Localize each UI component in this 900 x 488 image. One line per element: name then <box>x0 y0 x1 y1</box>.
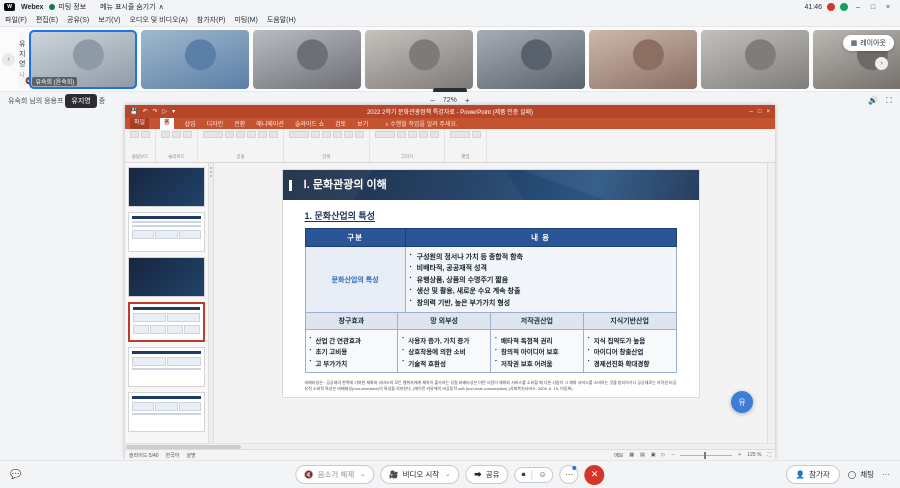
participant-video-tile[interactable]: 유숙희 (윤숙희) <box>29 30 137 89</box>
share-button-label: 공유 <box>486 469 500 480</box>
ribbon-tab-review[interactable]: 검토 <box>335 119 346 128</box>
self-video-tile[interactable]: 유지영 나 🔇 <box>19 30 25 89</box>
minimize-button[interactable]: – <box>853 4 863 11</box>
sub-content-table: 창구효과망 외부성저작권산업지식기반산업 산업 간 연관효과초기 고비용고 부가… <box>305 312 677 373</box>
powerpoint-window-buttons: – □ × <box>750 109 770 115</box>
bullet-item: 생산 및 활용, 새로운 수요 계속 창출 <box>410 286 672 296</box>
more-options-button[interactable]: ⋯ <box>560 465 579 484</box>
reactions-icon[interactable]: ☺ <box>539 470 547 479</box>
ribbon-group-label: 글꼴 <box>236 154 244 160</box>
participant-video-feed <box>253 30 361 89</box>
ribbon-group-label: 클립보드 <box>132 154 149 160</box>
slide-title-banner: Ⅰ. 문화관광의 이해 <box>283 170 699 200</box>
chat-icon: ◯ <box>848 470 856 479</box>
ribbon-button[interactable] <box>269 131 278 138</box>
status-notes-button[interactable]: 메모 <box>614 452 623 459</box>
ribbon-tab-transition[interactable]: 전환 <box>234 119 245 128</box>
fullscreen-icon[interactable]: ⛶ <box>886 96 892 106</box>
chat-button-label: 채팅 <box>860 469 874 480</box>
toolbar-right-group: 👤 참가자 ◯ 채팅 ⋯ <box>786 465 890 484</box>
self-video-name: 유지영 <box>19 39 25 69</box>
presenter-avatar-bubble[interactable]: 유 <box>731 391 753 413</box>
subtable-bullet-item: 저작권 보호 어려움 <box>495 358 579 368</box>
meeting-info-button[interactable]: 미팅 정보 <box>49 2 86 12</box>
ribbon-group[interactable]: 편집 <box>445 129 487 162</box>
layout-button-label: 레이아웃 <box>860 38 886 48</box>
table-row: 문화산업의 특성 구성원의 정서나 가치 등 종합적 함축비배타적, 공공재적 … <box>305 247 676 313</box>
zoom-slider[interactable] <box>680 455 732 456</box>
share-screen-icon: ⮕ <box>474 469 482 480</box>
subtable-bullet-item: 고 부가가치 <box>310 358 394 368</box>
ribbon-button[interactable] <box>322 131 331 138</box>
hide-menubar-label: 메뉴 표시줄 숨기기 <box>100 2 155 12</box>
ribbon-group-label: 그리기 <box>401 154 413 160</box>
ribbon-group[interactable]: 단락 <box>284 129 370 162</box>
webex-logo-icon: W <box>4 3 15 11</box>
chat-button[interactable]: ◯ 채팅 <box>848 469 874 480</box>
ribbon-group-label: 단락 <box>322 154 330 160</box>
ribbon-tab-file[interactable]: 파일 <box>130 118 149 129</box>
start-video-button[interactable]: 🎥 비디오 시작 ⌄ <box>380 465 459 484</box>
ribbon-tab-home[interactable]: 홈 <box>160 118 174 129</box>
subtable-header-row: 창구효과망 외부성저작권산업지식기반산업 <box>305 313 676 330</box>
toolbar-left-group: 💬 <box>10 469 21 480</box>
meeting-timer: 41:46 <box>804 4 822 11</box>
subtable-bullet-item: 아이디어 창출산업 <box>588 346 672 356</box>
zoom-in-icon[interactable]: + <box>738 452 741 458</box>
subtable-body-row: 산업 간 연관효과초기 고비용고 부가가치사용자 증가, 가치 증가상호작용에 … <box>305 330 676 373</box>
ribbon-controls <box>203 131 278 138</box>
ribbon-button[interactable] <box>183 131 192 138</box>
participants-button[interactable]: 👤 참가자 <box>786 465 840 484</box>
menu-item-help[interactable]: 도움말(H) <box>267 15 296 25</box>
subtable-bullet-item: 산업 간 연관효과 <box>310 335 394 345</box>
slide-thumbnail[interactable] <box>128 257 205 297</box>
slide-thumbnail[interactable] <box>128 212 205 252</box>
participant-video-feed <box>589 30 697 89</box>
slide-editing-area[interactable]: Ⅰ. 문화관광의 이해 1. 문화산업의 특성 구분 내 용 문화산업의 특성 … <box>214 163 767 443</box>
ribbon-group-label: 슬라이드 <box>168 154 185 160</box>
subtable-body-cell: 산업 간 연관효과초기 고비용고 부가가치 <box>305 330 398 373</box>
slide-subtitle: 1. 문화산업의 특성 <box>283 200 699 228</box>
table-header-cell: 구분 <box>305 229 405 247</box>
meeting-info-dot-icon <box>49 4 55 10</box>
strip-next-arrow-icon[interactable]: › <box>875 57 888 70</box>
ribbon-button[interactable] <box>289 131 309 138</box>
sharebar-right-icons: 🔊 ⛶ <box>868 96 892 106</box>
participant-video-tile[interactable] <box>141 30 249 89</box>
slide-thumbnail-selected[interactable] <box>128 302 205 342</box>
participant-video-tile[interactable] <box>589 30 697 89</box>
ribbon-group[interactable]: 슬라이드 <box>156 129 198 162</box>
video-off-icon: 🎥 <box>389 470 398 479</box>
ribbon-controls <box>161 131 192 138</box>
status-zoom-level: 125 % <box>747 452 761 458</box>
ribbon-button[interactable] <box>355 131 364 138</box>
table-row-label: 문화산업의 특성 <box>305 247 405 313</box>
subtable-bullet-item: 배타적 독점적 권리 <box>495 335 579 345</box>
participant-video-tile[interactable] <box>477 30 585 89</box>
ribbon-group[interactable]: 그리기 <box>370 129 445 162</box>
close-icon: ✕ <box>591 469 599 480</box>
record-reactions-group: ⏺ ☺ <box>515 467 554 483</box>
horizontal-scrollbar[interactable] <box>125 443 775 449</box>
name-tooltip: 유지영 <box>65 94 96 108</box>
titlebar-right-controls: 41:46 – □ × <box>804 3 896 11</box>
menu-item-edit[interactable]: 편집(E) <box>36 15 58 25</box>
ribbon-button[interactable] <box>450 131 470 138</box>
participant-video-tile[interactable] <box>701 30 809 89</box>
table-header-row: 구분 내 용 <box>305 229 676 247</box>
participant-name-label: 유숙희 (윤숙희) <box>32 77 77 86</box>
ribbon-controls <box>375 131 439 138</box>
layout-button[interactable]: ▦ 레이아웃 <box>843 35 894 51</box>
powerpoint-status-bar: 슬라이드 5/40 한국어 설명 메모 ▦ ▤ ▣ ▷ − + 125 % ⛶ <box>125 449 775 460</box>
subtable-body-cell: 사용자 증가, 가치 증가상호작용에 의한 소비기술적 호환성 <box>398 330 491 373</box>
volume-icon[interactable]: 🔊 <box>868 96 878 106</box>
ribbon-group[interactable]: 클립보드 <box>125 129 156 162</box>
connection-indicator-icon[interactable] <box>840 3 848 11</box>
mic-muted-icon: 🔇 <box>304 470 313 479</box>
menu-item-meeting[interactable]: 미팅(M) <box>234 15 257 25</box>
maximize-button[interactable]: □ <box>868 4 878 11</box>
more-dots-icon: ⋯ <box>565 470 573 479</box>
ribbon-button[interactable] <box>225 131 234 138</box>
shared-application-window: 💾 ↶ ↷ ▷ ▾ 2022 2학기 문화관광정책 특강자료 - PowerPo… <box>125 105 775 460</box>
ribbon-button[interactable] <box>236 131 245 138</box>
chevron-down-icon[interactable]: ⌄ <box>445 471 450 478</box>
ribbon-button[interactable] <box>130 131 139 138</box>
strip-prev-arrow-icon[interactable]: ‹ <box>2 53 15 66</box>
view-normal-icon[interactable]: ▦ <box>629 452 634 458</box>
ribbon-button[interactable] <box>141 131 150 138</box>
status-slide-indicator: 슬라이드 5/40 <box>129 452 159 459</box>
ribbon-tab-insert[interactable]: 삽입 <box>185 119 196 128</box>
current-slide: Ⅰ. 문화관광의 이해 1. 문화산업의 특성 구분 내 용 문화산업의 특성 … <box>282 169 700 398</box>
menu-item-view[interactable]: 보기(V) <box>98 15 120 25</box>
ribbon-button[interactable] <box>344 131 353 138</box>
subtable-body-cell: 지식 집약도가 높음아이디어 창출산업경제선진화 확대경향 <box>583 330 676 373</box>
meeting-controls-toolbar: 💬 🔇 음소거 해제 ⌄ 🎥 비디오 시작 ⌄ ⮕ 공유 ⏺ ☺ <box>0 460 900 488</box>
fit-slide-icon[interactable]: ⛶ <box>767 452 771 458</box>
menu-item-audio-video[interactable]: 오디오 및 비디오(A) <box>129 15 187 25</box>
slide-thumbnail-pane[interactable] <box>125 163 209 443</box>
zoom-control: – 72% + <box>430 96 469 105</box>
subtable-bullet-item: 상호작용에 의한 소비 <box>402 346 486 356</box>
slide-thumbnail[interactable] <box>128 347 205 387</box>
participant-video-tile[interactable] <box>365 30 473 89</box>
subtable-bullet-item: 지식 집약도가 높음 <box>588 335 672 345</box>
webex-meeting-window: W Webex 미팅 정보 메뉴 표시줄 숨기기 ∧ 41:46 – □ × 파… <box>0 0 900 488</box>
bullet-item: 비배타적, 공공재적 성격 <box>410 263 672 273</box>
slide-thumbnail[interactable] <box>128 392 205 432</box>
view-reading-icon[interactable]: ▣ <box>651 452 656 458</box>
main-content-table: 구분 내 용 문화산업의 특성 구성원의 정서나 가치 등 종합적 함축비배타적… <box>305 228 677 313</box>
ribbon-group[interactable]: 글꼴 <box>198 129 284 162</box>
chevron-up-icon: ∧ <box>159 3 164 11</box>
chat-bubble-icon[interactable]: 💬 <box>10 469 21 480</box>
ribbon-tab-slideshow[interactable]: 슬라이드 쇼 <box>295 119 324 128</box>
subtable-bullet-item: 기술적 호환성 <box>402 358 486 368</box>
ribbon-controls <box>130 131 150 138</box>
status-language[interactable]: 한국어 <box>166 452 180 459</box>
table-header-cell: 내 용 <box>405 229 676 247</box>
ribbon-group-label: 편집 <box>461 154 469 160</box>
menu-item-file[interactable]: 파일(F) <box>5 15 27 25</box>
meeting-info-label: 미팅 정보 <box>58 2 86 12</box>
layout-grid-icon: ▦ <box>851 39 858 47</box>
table-bullet-cell: 구성원의 정서나 가치 등 종합적 함축비배타적, 공공재적 성격유행상품, 상… <box>405 247 676 313</box>
ribbon-button[interactable] <box>161 131 170 138</box>
ribbon-button[interactable] <box>430 131 439 138</box>
menu-bar: 파일(F) 편집(E) 공유(S) 보기(V) 오디오 및 비디오(A) 참가자… <box>0 14 900 27</box>
ribbon-tab-view[interactable]: 보기 <box>357 119 368 128</box>
powerpoint-body: Ⅰ. 문화관광의 이해 1. 문화산업의 특성 구분 내 용 문화산업의 특성 … <box>125 163 775 443</box>
subtable-bullet-item: 초기 고비용 <box>310 346 394 356</box>
ribbon-button[interactable] <box>472 131 481 138</box>
subtable-bullet-item: 경제선진화 확대경향 <box>588 358 672 368</box>
view-slideshow-icon[interactable]: ▷ <box>662 452 666 458</box>
ribbon-button[interactable] <box>333 131 342 138</box>
menu-item-share[interactable]: 공유(S) <box>67 15 89 25</box>
menu-item-participant[interactable]: 참가자(P) <box>197 15 226 25</box>
toolbar-center-group: 🔇 음소거 해제 ⌄ 🎥 비디오 시작 ⌄ ⮕ 공유 ⏺ ☺ ⋯ <box>295 465 604 485</box>
hide-menubar-button[interactable]: 메뉴 표시줄 숨기기 ∧ <box>100 2 164 12</box>
subtable-bullet-item: 창의적 아이디어 보호 <box>495 346 579 356</box>
zoom-in-button[interactable]: + <box>465 96 470 105</box>
subtable-bullet-item: 사용자 증가, 가치 증가 <box>402 335 486 345</box>
powerpoint-title-bar: 💾 ↶ ↷ ▷ ▾ 2022 2학기 문화관광정책 특강자료 - PowerPo… <box>125 105 775 118</box>
ribbon-button[interactable] <box>247 131 256 138</box>
status-comments[interactable]: 설명 <box>186 452 195 459</box>
ribbon-button[interactable] <box>311 131 320 138</box>
participants-icon: 👤 <box>796 470 805 479</box>
ppt-close-button[interactable]: × <box>766 109 770 115</box>
bullet-item: 구성원의 정서나 가치 등 종합적 함축 <box>410 252 672 262</box>
participant-video-feed <box>365 30 473 89</box>
participant-video-feed <box>477 30 585 89</box>
zoom-out-icon[interactable]: − <box>671 452 674 458</box>
close-button[interactable]: × <box>883 4 893 11</box>
notification-dot-icon <box>573 466 577 470</box>
view-sorter-icon[interactable]: ▤ <box>640 452 645 458</box>
ribbon-controls <box>289 131 364 138</box>
subtable-header-cell: 창구효과 <box>305 313 398 330</box>
zoom-level-label: 72% <box>443 97 457 104</box>
slide-footnote: 비배타성은 : 공공재의 한쪽에 기여한 재화와 서비스의 모든 행위자에게 제… <box>283 373 699 397</box>
unmute-button[interactable]: 🔇 음소거 해제 ⌄ <box>295 465 374 484</box>
app-name: Webex <box>21 4 43 11</box>
participant-video-feed <box>141 30 249 89</box>
ribbon-button[interactable] <box>375 131 395 138</box>
ribbon-controls <box>450 131 481 138</box>
bullet-item: 유행상품, 상품의 수명주기 짧음 <box>410 275 672 285</box>
share-status-suffix: 중 <box>99 96 105 106</box>
subtable-body-cell: 배타적 독점적 권리창의적 아이디어 보호저작권 보호 어려움 <box>491 330 584 373</box>
title-bar: W Webex 미팅 정보 메뉴 표시줄 숨기기 ∧ 41:46 – □ × <box>0 0 900 14</box>
ribbon-button[interactable] <box>203 131 223 138</box>
subtable-header-cell: 저작권산업 <box>491 313 584 330</box>
video-thumbnail-strip: ‹ 유지영 나 🔇 유숙희 (윤숙희) ▦ 레이아웃 › <box>0 27 900 92</box>
status-right-group: 메모 ▦ ▤ ▣ ▷ − + 125 % ⛶ <box>614 452 771 459</box>
bullet-item: 창의력 기반, 높은 부가가치 형성 <box>410 298 672 308</box>
tell-me-search[interactable]: ⌕ 수행할 작업을 알려 주세요. <box>385 119 457 129</box>
start-video-button-label: 비디오 시작 <box>403 469 440 480</box>
record-indicator-icon[interactable] <box>827 3 835 11</box>
slide-scrollbar[interactable] <box>767 163 775 443</box>
ribbon-tab-animation[interactable]: 애니메이션 <box>256 119 284 128</box>
powerpoint-ribbon: 클립보드슬라이드글꼴단락그리기편집 <box>125 129 775 163</box>
ribbon-tab-design[interactable]: 디자인 <box>207 119 224 128</box>
slide-title: Ⅰ. 문화관광의 이해 <box>289 180 387 191</box>
powerpoint-ribbon-tabs: 파일 홈 삽입 디자인 전환 애니메이션 슬라이드 쇼 검토 보기 ⌕ 수행할 … <box>125 118 775 129</box>
record-icon[interactable]: ⏺ <box>522 470 526 480</box>
ppt-restore-button[interactable]: □ <box>758 109 762 115</box>
participant-tiles: 유숙희 (윤숙희) <box>29 30 900 89</box>
share-button[interactable]: ⮕ 공유 <box>465 465 508 484</box>
ribbon-button[interactable] <box>419 131 428 138</box>
ppt-minimize-button[interactable]: – <box>750 109 753 115</box>
unmute-button-label: 음소거 해제 <box>318 469 355 480</box>
subtable-header-cell: 망 외부성 <box>398 313 491 330</box>
ribbon-button[interactable] <box>408 131 417 138</box>
participant-video-feed <box>701 30 809 89</box>
powerpoint-document-title: 2022 2학기 문화관광정책 특강자료 - PowerPoint (제품 인증… <box>125 107 775 116</box>
share-status-prefix: 유숙희 님의 응용프 <box>8 96 63 106</box>
subtable-header-cell: 지식기반산업 <box>583 313 676 330</box>
end-meeting-button[interactable]: ✕ <box>585 465 605 485</box>
toolbar-more-icon[interactable]: ⋯ <box>882 470 890 479</box>
participants-button-label: 참가자 <box>809 469 830 480</box>
ribbon-button[interactable] <box>172 131 181 138</box>
ribbon-button[interactable] <box>258 131 267 138</box>
participant-video-tile[interactable] <box>253 30 361 89</box>
zoom-out-button[interactable]: – <box>430 96 434 105</box>
chevron-down-icon[interactable]: ⌄ <box>360 471 365 478</box>
slide-thumbnail[interactable] <box>128 167 205 207</box>
ribbon-button[interactable] <box>397 131 406 138</box>
